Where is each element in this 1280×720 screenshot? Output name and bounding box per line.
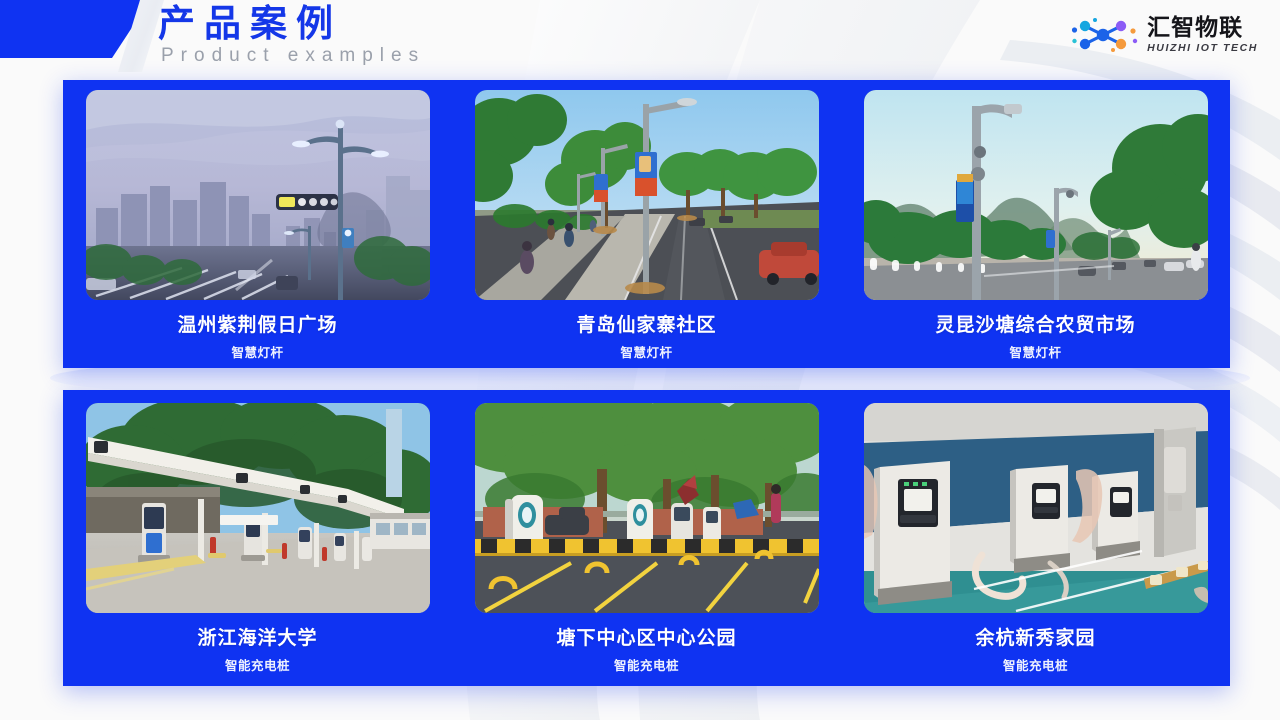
case-card[interactable]: 灵昆沙塘综合农贸市场 智慧灯杆 [841, 80, 1230, 368]
photo-art-1 [86, 90, 430, 300]
dusk-city-street-smart-pole-photo [86, 90, 430, 300]
case-card[interactable]: 余杭新秀家园 智能充电桩 [841, 390, 1230, 686]
case-card-category: 智慧灯杆 [620, 345, 672, 360]
photo-art-6 [864, 403, 1208, 613]
indoor-garage-charging-cabinets-photo [864, 403, 1208, 613]
case-card[interactable]: 温州紫荆假日广场 智慧灯杆 [63, 80, 452, 368]
case-panel-row-1: 温州紫荆假日广场 智慧灯杆 [63, 80, 1230, 368]
case-card-category: 智慧灯杆 [1009, 345, 1061, 360]
photo-art-4 [86, 403, 430, 613]
case-card-list-row-1: 温州紫荆假日广场 智慧灯杆 [63, 80, 1230, 368]
case-card[interactable]: 浙江海洋大学 智能充电桩 [63, 390, 452, 686]
outdoor-charging-lot-barriers-photo [475, 403, 819, 613]
case-card-title: 塘下中心区中心公园 [556, 627, 736, 649]
page-title: 产品案例 [158, 2, 425, 46]
case-card-category: 智能充电桩 [614, 658, 679, 673]
mountain-road-smart-pole-display-photo [864, 90, 1208, 300]
photo-art-2 [475, 90, 819, 300]
brand-name-en: HUIZHI IOT TECH [1147, 42, 1258, 55]
brand-logo-text: 汇智物联 HUIZHI IOT TECH [1147, 16, 1258, 55]
photo-art-3 [864, 90, 1208, 300]
case-card-category: 智慧灯杆 [231, 345, 283, 360]
case-card-category: 智能充电桩 [225, 658, 290, 673]
photo-art-5 [475, 403, 819, 613]
case-panel-row-2: 浙江海洋大学 智能充电桩 [63, 390, 1230, 686]
case-card-title: 余杭新秀家园 [975, 627, 1095, 649]
case-card-title: 浙江海洋大学 [197, 627, 317, 649]
brand-logo: 汇智物联 HUIZHI IOT TECH [1071, 14, 1258, 56]
case-card-category: 智能充电桩 [1003, 658, 1068, 673]
case-card-title: 青岛仙家寨社区 [576, 314, 716, 336]
molecule-network-icon [1071, 14, 1141, 56]
case-card-title: 灵昆沙塘综合农贸市场 [935, 314, 1135, 336]
canopy-charging-station-photo [86, 403, 430, 613]
molecule-network-icon-svg [1071, 14, 1141, 56]
page-title-block: 产品案例 Product examples [158, 2, 425, 67]
brand-name-cn: 汇智物联 [1147, 16, 1258, 41]
tree-lined-boulevard-smart-pole-render [475, 90, 819, 300]
case-card[interactable]: 塘下中心区中心公园 智能充电桩 [452, 390, 841, 686]
page-subtitle: Product examples [161, 45, 425, 67]
case-card[interactable]: 青岛仙家寨社区 智慧灯杆 [452, 80, 841, 368]
case-card-list-row-2: 浙江海洋大学 智能充电桩 [63, 390, 1230, 686]
case-card-title: 温州紫荆假日广场 [177, 314, 337, 336]
